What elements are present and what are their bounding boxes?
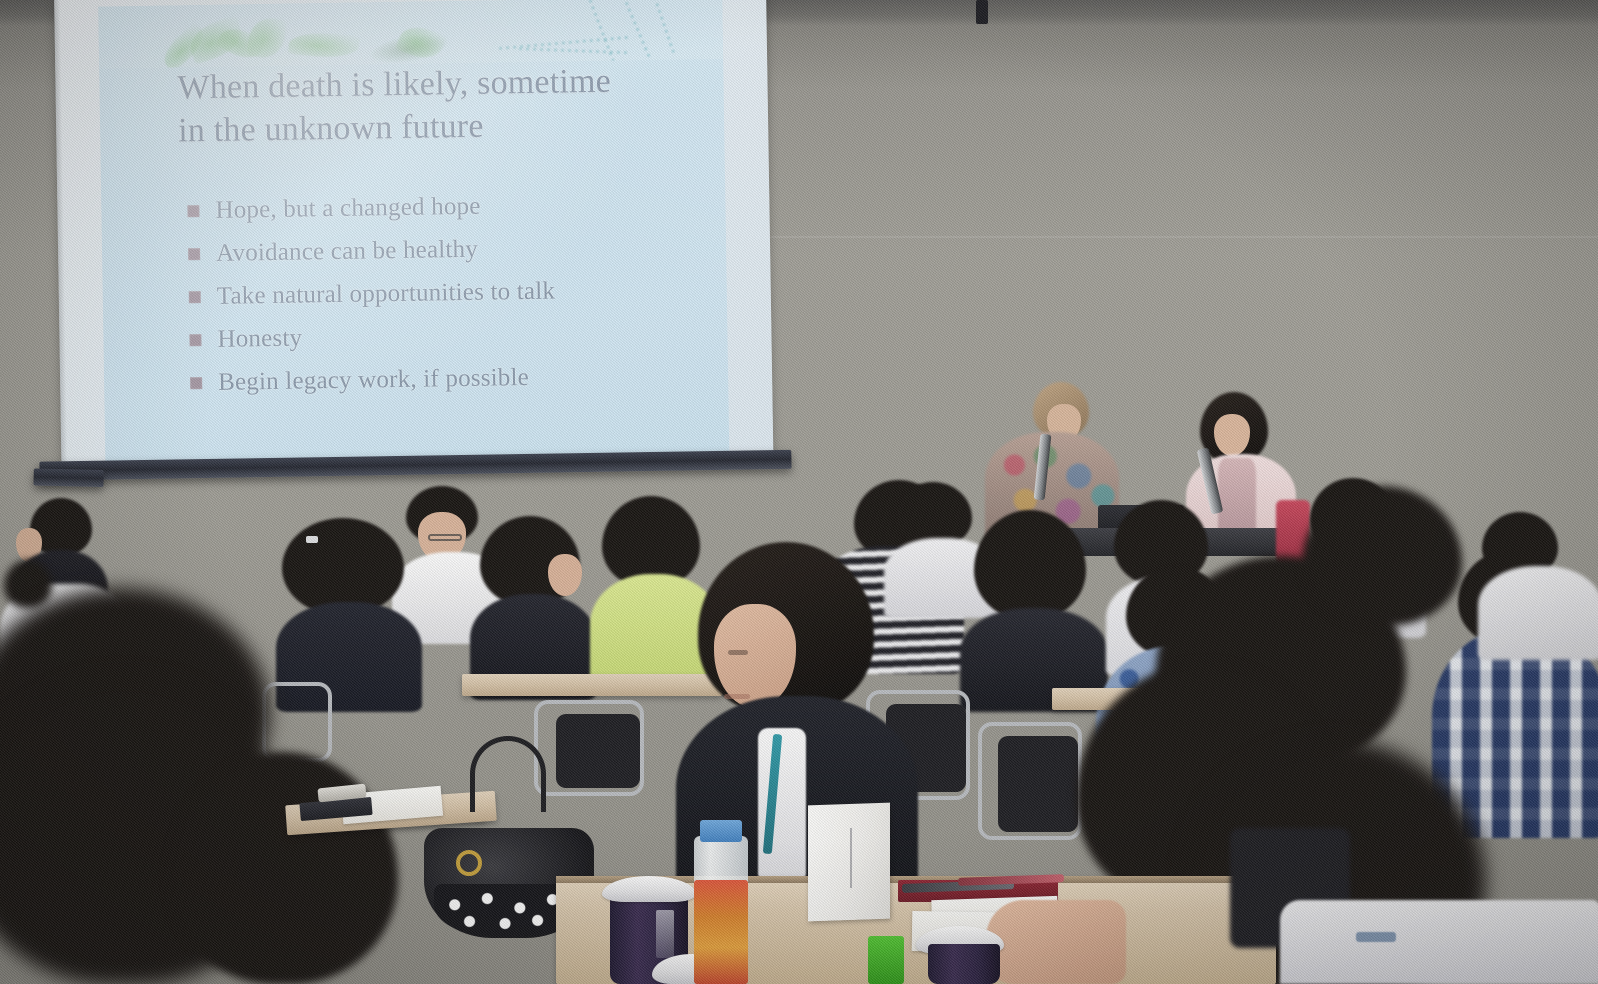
screen-weight-bar-tip [33,468,103,487]
audience-member [276,518,416,688]
slide-bullet-item: Begin legacy work, if possible [190,361,710,397]
slide-bullet-item: Take natural opportunities to talk [189,275,709,311]
bullet-text: Avoidance can be healthy [216,236,478,268]
slide-bullet-list: Hope, but a changed hope Avoidance can b… [187,189,710,412]
bullet-text: Honesty [217,325,302,354]
chair-back-frame [262,682,332,762]
audience-member [1478,512,1598,642]
coffee-cup-held[interactable] [928,944,1000,984]
bullet-text: Begin legacy work, if possible [218,364,529,397]
bullet-square-icon [190,377,202,389]
eye [728,650,748,655]
slide-bullet-item: Avoidance can be healthy [188,232,708,268]
audience-member [960,510,1100,700]
slide-bullet-item: Hope, but a changed hope [187,189,707,225]
hand-reaching [986,900,1126,984]
audience-member [470,516,590,676]
slide-bullet-item: Honesty [189,318,709,354]
handbag-strap [470,736,546,812]
hair-clip [306,536,318,543]
hair [282,518,404,614]
ceiling-fixture-icon [976,0,988,24]
slide-decoration-band [98,0,723,69]
mouth [724,694,750,699]
wall-seam [760,236,1598,238]
bullet-text: Take natural opportunities to talk [217,278,556,311]
slide-title-line-1: When death is likely, sometime [177,59,688,110]
inner-white-top [758,728,806,878]
handbag-gold-ring-icon [456,850,482,876]
conference-photo: When death is likely, sometime in the un… [0,0,1598,984]
green-item [868,936,904,984]
bullet-square-icon [189,291,201,303]
white-top [1478,566,1598,660]
hair [4,560,52,608]
hair [974,510,1086,620]
bullet-square-icon [187,205,199,217]
glasses-icon [428,534,462,541]
bottle-label [694,880,748,984]
cup-logo-text [656,910,674,958]
white-sleeve [1280,900,1598,984]
bullet-text: Hope, but a changed hope [215,193,481,225]
bottle-cap [700,820,742,842]
face [548,554,582,596]
slide-title: When death is likely, sometime in the un… [177,59,688,152]
slide-title-line-2: in the unknown future [178,102,689,153]
sleeve-detail [1356,932,1396,942]
name-card-tent [808,803,890,922]
presentation-slide: When death is likely, sometime in the un… [98,0,729,463]
bullet-square-icon [188,248,200,260]
name-card-fold [850,828,852,888]
bullet-square-icon [189,334,201,346]
projection-screen: When death is likely, sometime in the un… [14,0,782,500]
chair-seatback [998,736,1078,832]
chair-seatback [556,714,640,788]
